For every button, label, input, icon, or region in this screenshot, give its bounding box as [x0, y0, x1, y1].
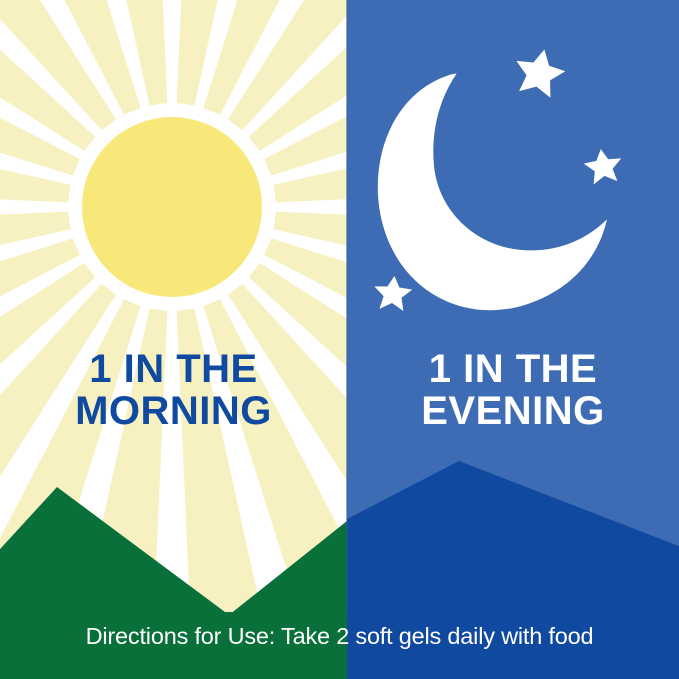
panel-divider: [346, 0, 348, 612]
sun-icon: [82, 117, 262, 297]
scene-svg: [0, 0, 679, 679]
directions-bar: Directions for Use: Take 2 soft gels dai…: [0, 612, 679, 660]
evening-panel: [345, 0, 679, 679]
directions-text: Directions for Use: Take 2 soft gels dai…: [86, 623, 594, 650]
artboard: [0, 0, 679, 679]
product-directions-graphic: 1 IN THE MORNING 1 IN THE EVENING Direct…: [0, 0, 679, 679]
